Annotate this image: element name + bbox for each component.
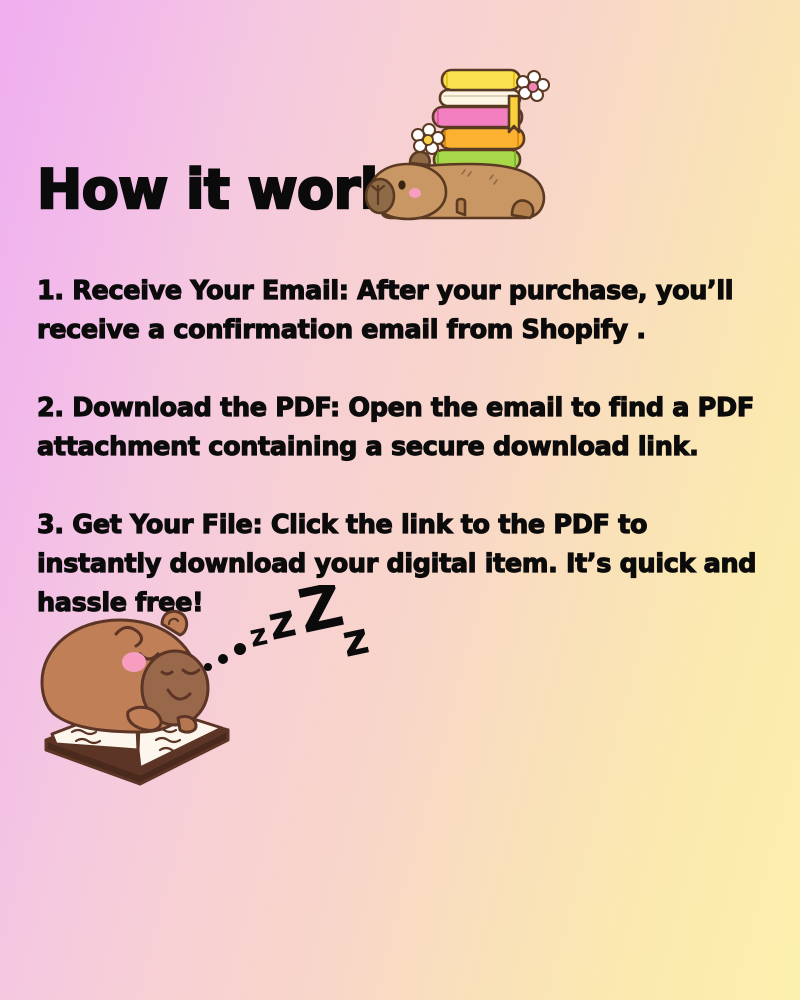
book-right-page xyxy=(138,702,222,768)
sleeping-capybara-cheek-blush xyxy=(122,652,146,672)
sleeping-capybara-smile xyxy=(168,690,190,699)
poster-canvas: How it works xyxy=(0,0,800,1000)
sleeping-capybara-nostril xyxy=(162,672,172,674)
bookmark-ribbon-icon xyxy=(509,96,519,132)
sleeping-capybara-muzzle xyxy=(142,651,208,725)
step-item-1: 1. Receive Your Email: After your purcha… xyxy=(37,272,763,350)
book-page-lines xyxy=(72,728,184,752)
step-item-2: 2. Download the PDF: Open the email to f… xyxy=(37,389,763,467)
sleeping-capybara-paw xyxy=(128,707,161,730)
capybara-fur-tufts xyxy=(462,170,497,184)
page-title: How it works xyxy=(37,159,427,221)
sleeping-capybara-eye-left xyxy=(140,654,158,659)
flower-pink-center-icon xyxy=(517,71,549,101)
sleep-dots-icon xyxy=(204,643,246,671)
sleeping-capybara-foot xyxy=(178,716,196,732)
yellow-book-icon xyxy=(442,70,520,90)
capybara-front-leg xyxy=(457,199,465,215)
orange-book-icon xyxy=(440,128,524,149)
cream-book-icon xyxy=(440,90,520,106)
step-item-3: 3. Get Your File: Click the link to the … xyxy=(37,506,763,623)
steps-list: 1. Receive Your Email: After your purcha… xyxy=(37,272,763,623)
book-left-page xyxy=(52,702,138,750)
sleeping-capybara-eye-right xyxy=(183,670,199,674)
sleeping-capybara-body xyxy=(42,620,198,732)
sleeping-capybara-tuft xyxy=(116,627,142,646)
book-cover-edge xyxy=(46,730,228,784)
book-cover xyxy=(46,704,228,774)
pink-book-icon xyxy=(433,107,522,127)
flower-yellow-center-icon xyxy=(412,124,444,154)
green-book-icon xyxy=(434,150,520,169)
capybara-back-leg xyxy=(512,201,533,218)
